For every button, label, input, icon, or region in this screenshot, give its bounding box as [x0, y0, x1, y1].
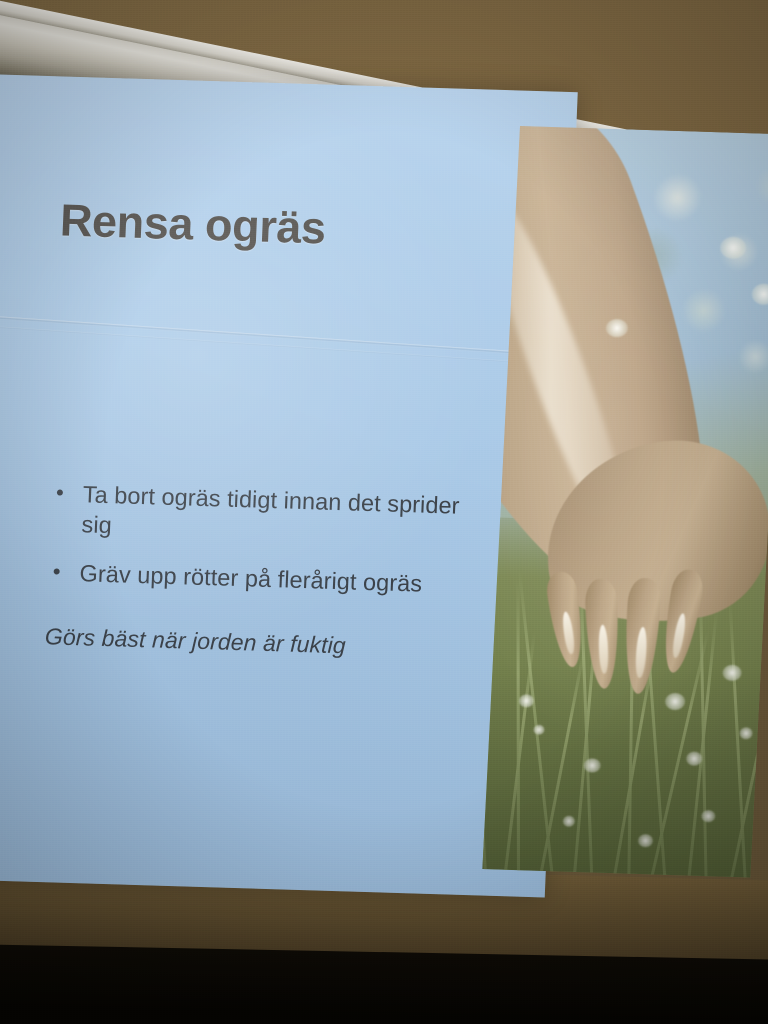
slide-body: Ta bort ogräs tidigt innan det sprider s…	[44, 478, 471, 663]
bullet-dot-icon	[54, 568, 60, 574]
bullet-item: Ta bort ogräs tidigt innan det sprider s…	[49, 478, 471, 551]
slide-note: Görs bäst när jorden är fuktig	[44, 623, 465, 663]
slide-title: Rensa ogräs	[59, 194, 327, 254]
bullet-text: Ta bort ogräs tidigt innan det sprider s…	[81, 481, 460, 538]
bullet-text: Gräv upp rötter på flerårigt ogräs	[79, 560, 423, 596]
slide-bullet-list: Ta bort ogräs tidigt innan det sprider s…	[47, 478, 471, 600]
screen-fabric-crease-secondary	[0, 322, 578, 370]
bullet-dot-icon	[57, 489, 63, 495]
slide-photo	[482, 126, 768, 877]
bullet-item: Gräv upp rötter på flerårigt ogräs	[47, 557, 468, 600]
screenshot-root: Rensa ogräs Ta bort ogräs tidigt innan d…	[0, 0, 768, 1024]
screen-fabric-crease	[0, 312, 578, 361]
